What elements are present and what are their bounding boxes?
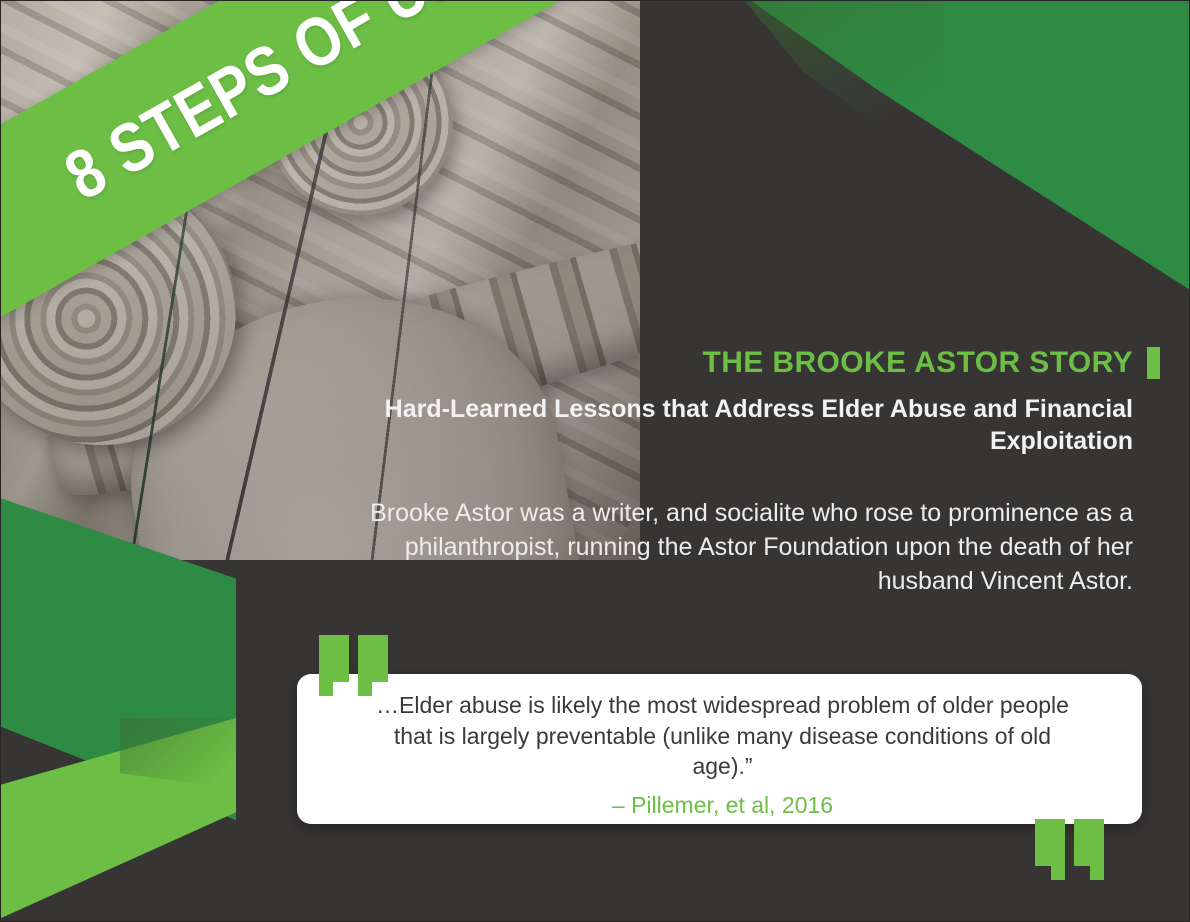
quote-card: …Elder abuse is likely the most widespre… [297, 674, 1142, 824]
slide-root: 8 STEPS OF UPSTANDERSHIPTM THE BROOKE AS… [0, 0, 1190, 922]
close-quote-icon [1035, 819, 1104, 866]
subtitle: Hard-Learned Lessons that Address Elder … [340, 393, 1160, 457]
ribbon-fold-top-right [750, 0, 1190, 290]
text-column: THE BROOKE ASTOR STORY Hard-Learned Less… [340, 346, 1160, 598]
headline-row: THE BROOKE ASTOR STORY [340, 346, 1160, 379]
headline-accent-bar [1147, 347, 1160, 379]
page-title: THE BROOKE ASTOR STORY [702, 346, 1133, 379]
quote-card-inner: …Elder abuse is likely the most widespre… [297, 674, 1142, 824]
body-paragraph: Brooke Astor was a writer, and socialite… [340, 497, 1160, 598]
quote-text: …Elder abuse is likely the most widespre… [369, 690, 1076, 782]
quote-block: …Elder abuse is likely the most widespre… [297, 674, 1142, 824]
quote-attribution: – Pillemer, et al, 2016 [369, 792, 1076, 819]
open-quote-icon [319, 635, 388, 682]
